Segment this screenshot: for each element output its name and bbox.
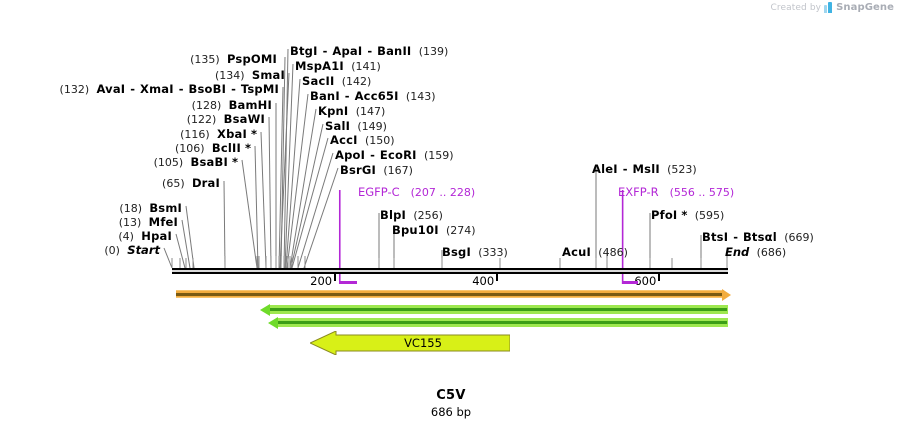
enzyme-name: SacII <box>302 74 334 88</box>
enzyme-label-bani[interactable]: BanI - Acc65I (143) <box>310 89 436 103</box>
enzyme-position: (147) <box>356 105 386 118</box>
enzyme-position: (141) <box>351 60 381 73</box>
enzyme-label-pfoi[interactable]: PfoI * (595) <box>651 208 724 222</box>
axis-tick-600 <box>658 274 660 281</box>
star-marker: * <box>677 208 687 222</box>
enzyme-name: BclII <box>212 141 241 155</box>
gene-arrow-label: VC155 <box>310 331 510 355</box>
enzyme-position: (274) <box>446 224 476 237</box>
enzyme-label-mspa1i[interactable]: MspA1I (141) <box>295 59 381 73</box>
enzyme-position: (105) <box>154 156 184 169</box>
enzyme-label-acui[interactable]: AcuI (486) <box>562 245 628 259</box>
enzyme-name: BsgI <box>442 245 471 259</box>
enzyme-name: XmaI <box>140 82 174 96</box>
enzyme-name: Bpu10I <box>392 223 439 237</box>
enzyme-name: BtgI <box>290 44 318 58</box>
enzyme-position: (142) <box>342 75 372 88</box>
enzyme-position: (132) <box>60 83 90 96</box>
enzyme-position: (134) <box>215 69 245 82</box>
orange-track-arrowhead <box>722 289 731 301</box>
axis-tick-400 <box>496 274 498 281</box>
enzyme-name: MspA1I <box>295 59 344 73</box>
enzyme-label-pspomi[interactable]: (135) PspOMI <box>190 52 277 66</box>
axis-tick-200 <box>334 274 336 281</box>
enzyme-position: (128) <box>192 99 222 112</box>
enzyme-name: MfeI <box>149 215 178 229</box>
enzyme-position: (135) <box>190 53 220 66</box>
enzyme-name: BsrGI <box>340 163 376 177</box>
enzyme-label-smai[interactable]: (134) SmaI <box>215 68 285 82</box>
enzyme-label-bsrgi[interactable]: BsrGI (167) <box>340 163 413 177</box>
enzyme-name: ApaI <box>332 44 362 58</box>
feature-range: (556 .. 575) <box>670 186 735 199</box>
enzyme-label-mfei[interactable]: (13) MfeI <box>119 215 178 229</box>
snapgene-watermark: Created by SnapGene <box>771 2 894 13</box>
enzyme-position: (143) <box>406 90 436 103</box>
enzyme-label-btgi[interactable]: BtgI - ApaI - BanII (139) <box>290 44 448 58</box>
enzyme-position: (4) <box>118 230 134 243</box>
green-track-2-arrowhead <box>268 317 278 329</box>
enzyme-label-bsabi[interactable]: (105) BsaBI * <box>154 155 238 169</box>
enzyme-label-apoi[interactable]: ApoI - EcoRI (159) <box>335 148 454 162</box>
enzyme-name: KpnI <box>318 104 348 118</box>
enzyme-name: PspOMI <box>227 52 277 66</box>
enzyme-position: (18) <box>119 202 142 215</box>
enzyme-label-btsi[interactable]: BtsI - Btsαl (669) <box>702 230 814 244</box>
enzyme-name: Btsαl <box>743 230 777 244</box>
axis-tick-label-200: 200 <box>310 274 334 288</box>
enzyme-name: TspMI <box>241 82 279 96</box>
enzyme-name: BtsI <box>702 230 728 244</box>
enzyme-label-end[interactable]: End (686) <box>725 245 786 259</box>
enzyme-name: XbaI <box>217 127 247 141</box>
enzyme-label-blpi[interactable]: BlpI (256) <box>380 208 443 222</box>
enzyme-name: BsaWI <box>224 112 265 126</box>
enzyme-name: BamHI <box>229 98 272 112</box>
star-marker: * <box>241 141 251 155</box>
enzyme-label-bsmi[interactable]: (18) BsmI <box>119 201 182 215</box>
enzyme-name: DraI <box>192 176 220 190</box>
enzyme-label-drai[interactable]: (65) DraI <box>162 176 220 190</box>
enzyme-position: (150) <box>365 134 395 147</box>
feature-label-egfp-c[interactable]: EGFP-C (207 .. 228) <box>358 185 475 199</box>
gene-arrow-vc155[interactable]: VC155 <box>310 331 510 355</box>
enzyme-label-acci[interactable]: AccI (150) <box>330 133 395 147</box>
enzyme-label-bpu10i[interactable]: Bpu10I (274) <box>392 223 476 237</box>
enzyme-name: EcoRI <box>380 148 417 162</box>
enzyme-name: Start <box>127 243 160 257</box>
enzyme-label-kpni[interactable]: KpnI (147) <box>318 104 385 118</box>
enzyme-name: HpaI <box>141 229 172 243</box>
star-marker: * <box>247 127 257 141</box>
feature-label-exfp-r[interactable]: EXFP-R (556 .. 575) <box>618 185 734 199</box>
page-title: C5V <box>0 388 902 403</box>
enzyme-position: (139) <box>419 45 449 58</box>
enzyme-name: SmaI <box>252 68 285 82</box>
feature-bracket-exfp-r <box>623 281 638 284</box>
enzyme-label-alei[interactable]: AleI - MslI (523) <box>592 162 697 176</box>
enzyme-position: (122) <box>187 113 217 126</box>
feature-bracket-egfp-c <box>340 281 357 284</box>
enzyme-name: BanI <box>310 89 340 103</box>
enzyme-name: BsaBI <box>191 155 228 169</box>
star-marker: * <box>228 155 238 169</box>
enzyme-name: PfoI <box>651 208 677 222</box>
enzyme-position: (116) <box>180 128 210 141</box>
enzyme-position: (65) <box>162 177 185 190</box>
snapgene-logo-icon <box>824 2 833 13</box>
enzyme-label-sacii[interactable]: SacII (142) <box>302 74 371 88</box>
enzyme-label-hpai[interactable]: (4) HpaI <box>118 229 172 243</box>
enzyme-name: AccI <box>330 133 358 147</box>
enzyme-label-xbai[interactable]: (116) XbaI * <box>180 127 257 141</box>
feature-name: EGFP-C <box>358 185 400 199</box>
enzyme-label-start[interactable]: (0) Start <box>104 243 160 257</box>
watermark-brand: SnapGene <box>836 2 894 13</box>
green-track-1-arrowhead <box>260 304 270 316</box>
enzyme-position: (13) <box>119 216 142 229</box>
enzyme-position: (149) <box>357 120 387 133</box>
sequence-length: 686 bp <box>0 405 902 419</box>
enzyme-label-bsgi[interactable]: BsgI (333) <box>442 245 508 259</box>
enzyme-name: BanII <box>377 44 411 58</box>
enzyme-position: (256) <box>413 209 443 222</box>
enzyme-name: Acc65I <box>355 89 399 103</box>
feature-name: EXFP-R <box>618 185 659 199</box>
enzyme-position: (159) <box>424 149 454 162</box>
title-block: C5V 686 bp <box>0 388 902 419</box>
enzyme-position: (523) <box>667 163 697 176</box>
enzyme-label-bclii[interactable]: (106) BclII * <box>175 141 251 155</box>
enzyme-position: (333) <box>478 246 508 259</box>
enzyme-name: AleI <box>592 162 618 176</box>
enzyme-label-bsawi[interactable]: (122) BsaWI <box>187 112 265 126</box>
enzyme-name: SalI <box>325 119 350 133</box>
enzyme-name: ApoI <box>335 148 365 162</box>
enzyme-position: (686) <box>757 246 787 259</box>
axis-tick-label-400: 400 <box>472 274 496 288</box>
enzyme-name: AvaI <box>96 82 125 96</box>
enzyme-position: (167) <box>383 164 413 177</box>
enzyme-position: (0) <box>104 244 120 257</box>
green-reverse-track-2[interactable] <box>276 318 728 327</box>
green-reverse-track-1[interactable] <box>268 305 728 314</box>
enzyme-name: BsmI <box>149 201 182 215</box>
enzyme-position: (669) <box>784 231 814 244</box>
enzyme-name: AcuI <box>562 245 591 259</box>
watermark-created-by: Created by <box>771 3 822 13</box>
orange-forward-track[interactable] <box>176 290 724 298</box>
enzyme-label-sali[interactable]: SalI (149) <box>325 119 387 133</box>
feature-range: (207 .. 228) <box>411 186 476 199</box>
enzyme-name: BlpI <box>380 208 406 222</box>
enzyme-label-avai[interactable]: (132) AvaI - XmaI - BsoBI - TspMI <box>60 82 279 96</box>
enzyme-position: (486) <box>598 246 628 259</box>
enzyme-name: BsoBI <box>189 82 227 96</box>
enzyme-position: (106) <box>175 142 205 155</box>
sequence-map: Created by SnapGene <box>0 0 902 427</box>
enzyme-name: MslI <box>633 162 660 176</box>
enzyme-name: End <box>725 245 749 259</box>
enzyme-label-bamhi[interactable]: (128) BamHI <box>192 98 272 112</box>
enzyme-position: (595) <box>695 209 725 222</box>
